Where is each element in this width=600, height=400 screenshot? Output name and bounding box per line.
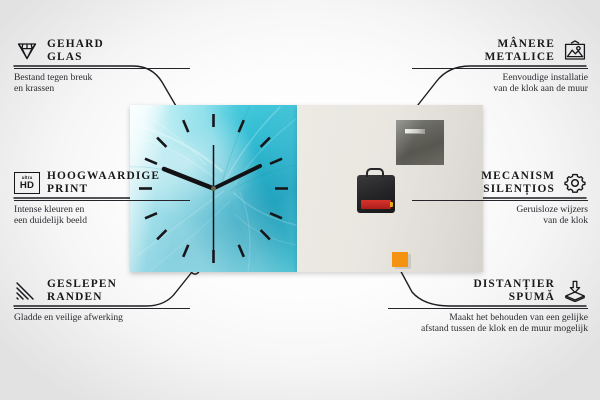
- feature-title: MECANISMSILENȚIOS: [481, 170, 555, 197]
- feature-header: MÂNEREMETALICE: [412, 38, 588, 65]
- metal-hanger-plate: [396, 120, 444, 165]
- aa-battery: [361, 200, 391, 209]
- feature-manere-metalice: MÂNEREMETALICE Eenvoudige installatie va…: [412, 38, 588, 95]
- feature-divider: [412, 200, 588, 201]
- feature-header: GEHARDGLAS: [14, 38, 190, 65]
- hanger-slot: [405, 129, 425, 133]
- feature-header: MECANISMSILENȚIOS: [412, 170, 588, 197]
- feature-title: HOOGWAARDIGEPRINT: [47, 170, 160, 197]
- feature-divider: [14, 200, 190, 201]
- mechanism-hanger-hook: [366, 168, 384, 177]
- feature-title: DISTANȚIERSPUMĂ: [473, 278, 555, 305]
- feature-description: Intense kleuren en een duidelijk beeld: [14, 204, 190, 227]
- feature-description: Maakt het behouden van een gelijke afsta…: [388, 312, 588, 335]
- feature-distantier-spuma: DISTANȚIERSPUMĂ Maakt het behouden van e…: [388, 278, 588, 335]
- feature-header: ultra HD HOOGWAARDIGEPRINT: [14, 170, 190, 197]
- feature-gehard-glas: GEHARDGLAS Bestand tegen breuk en krasse…: [14, 38, 190, 95]
- feature-divider: [412, 68, 588, 69]
- feature-divider: [388, 308, 588, 309]
- feature-description: Eenvoudige installatie van de klok aan d…: [412, 72, 588, 95]
- quartz-mechanism: [357, 175, 395, 213]
- feature-divider: [14, 68, 190, 69]
- beveled-edges-icon: [14, 280, 40, 302]
- gear-icon: [562, 172, 588, 194]
- foam-spacer: [392, 252, 408, 267]
- feature-header: DISTANȚIERSPUMĂ: [388, 278, 588, 305]
- feature-hoogwaardige-print: ultra HD HOOGWAARDIGEPRINT Intense kleur…: [14, 170, 190, 227]
- clock-center-cap: [211, 186, 216, 191]
- feature-title: GESLEPENRANDEN: [47, 278, 117, 305]
- feature-mecanism-silentios: MECANISMSILENȚIOS Geruisloze wijzers van…: [412, 170, 588, 227]
- feature-description: Gladde en veilige afwerking: [14, 312, 190, 324]
- feature-divider: [14, 308, 190, 309]
- ultra-hd-icon-main-text: HD: [20, 181, 34, 191]
- infographic-canvas: GEHARDGLAS Bestand tegen breuk en krasse…: [0, 0, 600, 400]
- feature-description: Bestand tegen breuk en krassen: [14, 72, 190, 95]
- feature-description: Geruisloze wijzers van de klok: [412, 204, 588, 227]
- ultra-hd-icon: ultra HD: [14, 172, 40, 194]
- feature-geslepen-randen: GESLEPENRANDEN Gladde en veilige afwerki…: [14, 278, 190, 323]
- minute-hand: [214, 166, 261, 189]
- feature-title: MÂNEREMETALICE: [485, 38, 555, 65]
- picture-frame-hanging-icon: [562, 40, 588, 62]
- feature-header: GESLEPENRANDEN: [14, 278, 190, 305]
- diamond-icon: [14, 40, 40, 62]
- foam-spacer-arrow-icon: [562, 280, 588, 302]
- feature-title: GEHARDGLAS: [47, 38, 104, 65]
